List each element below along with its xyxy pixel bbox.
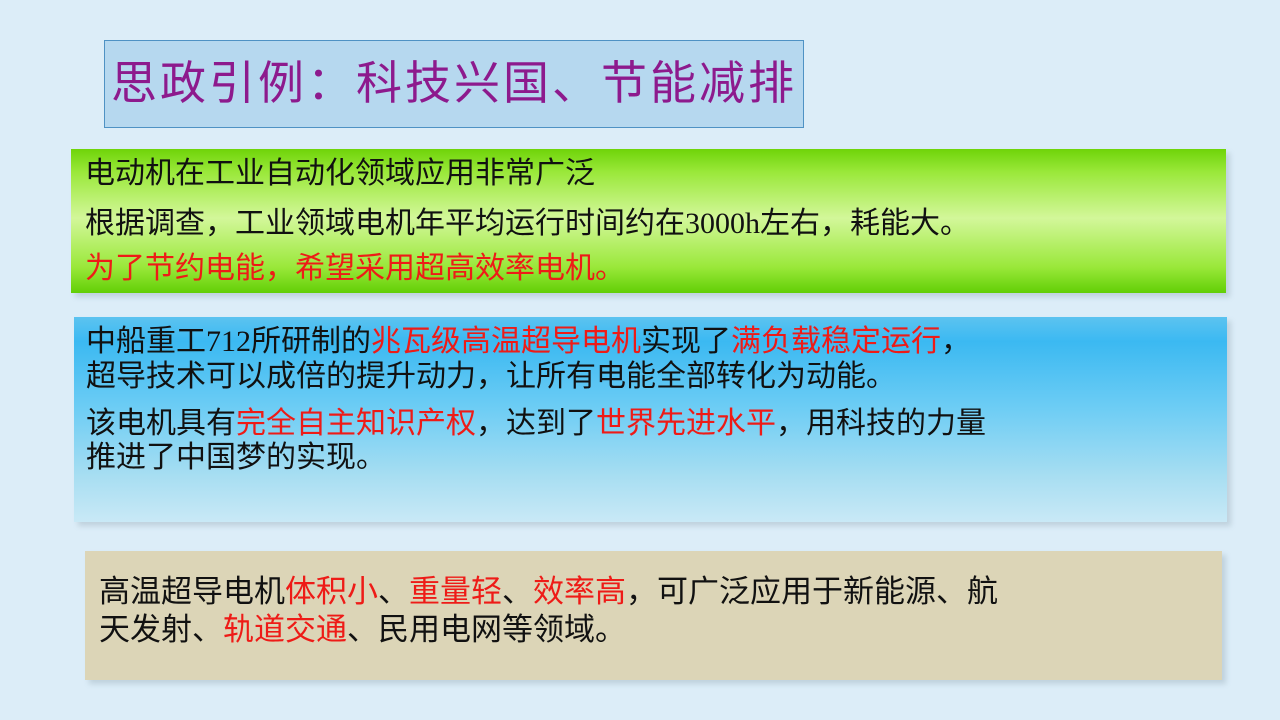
body-text: 高温超导电机 [99, 574, 285, 609]
text-line: 中船重工712所研制的兆瓦级高温超导电机实现了满负载稳定运行， [86, 325, 1213, 360]
body-text: ，用科技的力量 [776, 407, 986, 440]
highlight-text: 为了节约电能，希望采用超高效率电机。 [85, 252, 625, 285]
content-box-beige: 高温超导电机体积小、重量轻、效率高，可广泛应用于新能源、航 天发射、轨道交通、民… [85, 551, 1222, 680]
text-line: 该电机具有完全自主知识产权，达到了世界先进水平，用科技的力量 [86, 407, 1213, 442]
content-box-green: 电动机在工业自动化领域应用非常广泛 根据调查，工业领域电机年平均运行时间约在30… [71, 149, 1226, 293]
text-line: 超导技术可以成倍的提升动力，让所有电能全部转化为动能。 [86, 360, 1213, 395]
body-text: 根据调查，工业领域电机年平均运行时间约在3000h左右，耗能大。 [85, 207, 970, 240]
body-text: 、 [378, 574, 409, 609]
text-line: 推进了中国梦的实现。 [86, 441, 1213, 476]
page-title: 思政引例：科技兴国、节能减排 [111, 61, 797, 107]
body-text: 天发射、 [99, 612, 223, 647]
text-line: 高温超导电机体积小、重量轻、效率高，可广泛应用于新能源、航 [99, 573, 1208, 611]
highlight-text: 重量轻 [409, 574, 502, 609]
slide-title-box: 思政引例：科技兴国、节能减排 [104, 40, 804, 128]
highlight-text: 完全自主知识产权 [236, 407, 476, 440]
highlight-text: 满负载稳定运行 [731, 325, 941, 358]
text-line: 为了节约电能，希望采用超高效率电机。 [85, 250, 1212, 288]
highlight-text: 世界先进水平 [596, 407, 776, 440]
body-text: 、 [502, 574, 533, 609]
body-text: 、民用电网等领域。 [347, 612, 626, 647]
body-text: 该电机具有 [86, 407, 236, 440]
highlight-text: 轨道交通 [223, 612, 347, 647]
highlight-text: 体积小 [285, 574, 378, 609]
body-text: ，达到了 [476, 407, 596, 440]
body-text: 推进了中国梦的实现。 [86, 441, 386, 474]
highlight-text: 兆瓦级高温超导电机 [371, 325, 641, 358]
content-box-blue: 中船重工712所研制的兆瓦级高温超导电机实现了满负载稳定运行， 超导技术可以成倍… [74, 317, 1227, 522]
body-text: 电动机在工业自动化领域应用非常广泛 [85, 157, 595, 190]
text-line: 根据调查，工业领域电机年平均运行时间约在3000h左右，耗能大。 [85, 205, 1212, 243]
text-line: 电动机在工业自动化领域应用非常广泛 [85, 155, 1212, 193]
highlight-text: 效率高 [533, 574, 626, 609]
body-text: ，可广泛应用于新能源、航 [626, 574, 998, 609]
body-text: 超导技术可以成倍的提升动力，让所有电能全部转化为动能。 [86, 360, 896, 393]
text-line: 天发射、轨道交通、民用电网等领域。 [99, 611, 1208, 649]
body-text: 实现了 [641, 325, 731, 358]
body-text: ， [941, 325, 971, 358]
slide-root: 思政引例：科技兴国、节能减排 电动机在工业自动化领域应用非常广泛 根据调查，工业… [0, 0, 1280, 720]
body-text: 中船重工712所研制的 [86, 325, 371, 358]
